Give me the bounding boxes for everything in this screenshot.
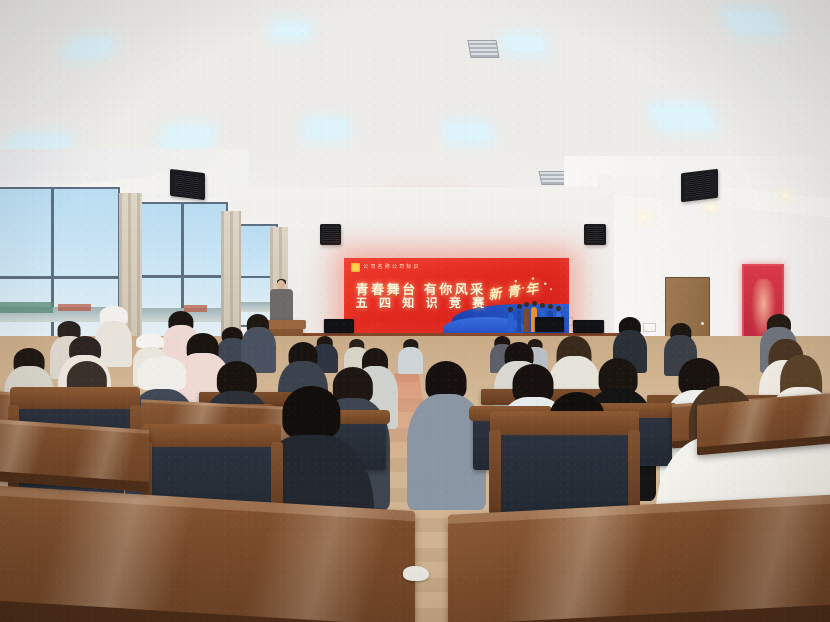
- ceiling-panel-light: [504, 37, 545, 51]
- desk-foreground-right: [448, 493, 830, 622]
- stage-performer: [508, 313, 513, 333]
- ceiling-panel-light: [163, 128, 212, 147]
- stage-monitor-speaker-right-2: [573, 320, 605, 332]
- window-exterior-roof: [58, 304, 90, 312]
- logo-mark-icon: [351, 263, 360, 272]
- performer-head: [532, 301, 537, 306]
- chair-wood-frame: [142, 424, 281, 447]
- ceiling-panel-light: [273, 25, 307, 37]
- curtain-left-b: [221, 211, 241, 335]
- chair-wood-frame: [10, 387, 140, 410]
- chair-armrest-left: [489, 430, 501, 520]
- conference-hall-photo: 公 司 名 称 公 司 标 识 青春舞台 有你风采 五 四 知 识 竞 赛 新 …: [0, 0, 830, 622]
- wall-speaker-left-2: [320, 224, 342, 245]
- chair-wood-frame: [490, 411, 639, 435]
- performer-head: [556, 306, 561, 311]
- baseball-cap: [136, 334, 164, 348]
- shoe: [403, 566, 430, 581]
- door-knob[interactable]: [701, 322, 704, 325]
- ceiling-panel-light: [725, 12, 781, 31]
- window-exterior-roof: [0, 302, 53, 313]
- wall-downlight: [640, 215, 647, 219]
- led-org-logo: 公 司 名 称 公 司 标 识: [351, 263, 419, 272]
- wall-speaker-right: [681, 169, 718, 202]
- led-script-text: 新 青 年: [487, 277, 540, 303]
- stage-performer: [517, 310, 522, 333]
- wall-speaker-left: [170, 169, 205, 201]
- stage-performer: [524, 308, 529, 332]
- wall-speaker-right-2: [584, 224, 606, 245]
- ceiling-panel-light: [306, 121, 346, 137]
- ceiling-air-vent: [467, 40, 499, 58]
- baseball-cap: [137, 356, 186, 390]
- person-hair: [283, 386, 340, 440]
- ceiling-panel-light: [651, 106, 715, 128]
- led-subline: 五 四 知 识 竞 赛: [356, 294, 489, 311]
- performer-head: [517, 304, 522, 309]
- stage-monitor-speaker-right: [535, 317, 563, 331]
- stage-monitor-speaker-left: [324, 319, 354, 333]
- wall-downlight: [782, 193, 789, 197]
- led-org-logo-text: 公 司 名 称 公 司 标 识: [363, 265, 419, 270]
- ceiling-panel-light: [447, 124, 489, 141]
- window-mullion: [0, 276, 118, 279]
- performer-head: [540, 303, 545, 308]
- chair-foreground[interactable]: [498, 423, 631, 516]
